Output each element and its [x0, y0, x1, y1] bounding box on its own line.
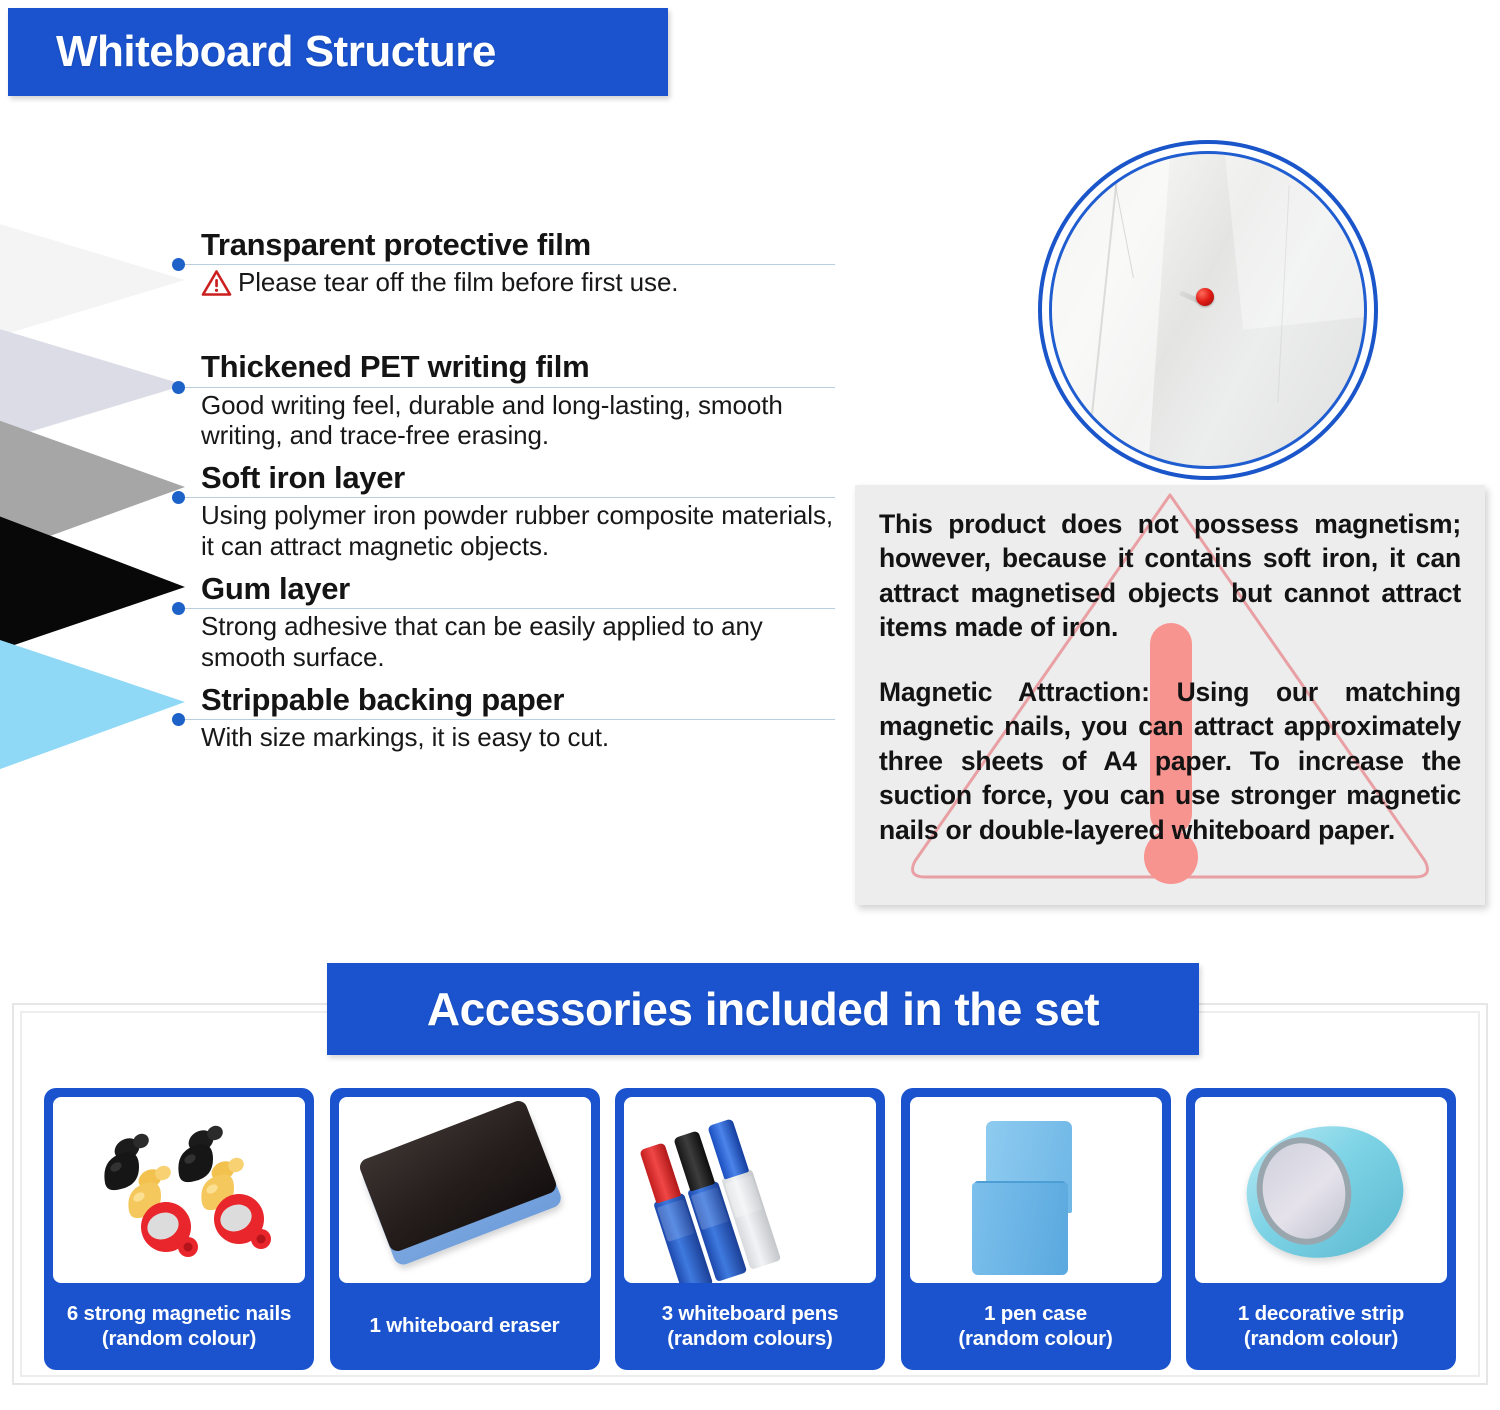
layer-title: Soft iron layer	[165, 461, 835, 494]
accessory-caption-line2: (random colour)	[1238, 1327, 1404, 1351]
layer-description: With size markings, it is easy to cut.	[165, 722, 835, 753]
accessory-card-decorative-strip[interactable]: 1 decorative strip (random colour)	[1186, 1088, 1456, 1370]
accessory-caption: 1 decorative strip (random colour)	[1234, 1283, 1408, 1370]
page-title: Whiteboard Structure	[8, 27, 496, 77]
layer-title: Thickened PET writing film	[165, 350, 835, 383]
decorative-strip-photo	[1195, 1097, 1447, 1283]
layer-row: Transparent protective film Please tear …	[165, 228, 835, 304]
accessory-caption-line1: 1 pen case	[984, 1302, 1087, 1325]
magnetic-pin-photo	[1049, 151, 1367, 469]
magnetic-nails-photo	[53, 1097, 305, 1283]
wedge-backing-paper	[0, 630, 185, 780]
wedge-gum-layer	[0, 505, 185, 660]
accessory-caption-line2: (random colours)	[662, 1327, 839, 1351]
accessory-card-whiteboard-eraser[interactable]: 1 whiteboard eraser	[330, 1088, 600, 1370]
pen-case-photo	[910, 1097, 1162, 1283]
red-magnetic-pin-icon	[1196, 288, 1214, 306]
magnetism-note-box: This product does not possess magne­tism…	[855, 485, 1485, 905]
accessory-caption: 3 whiteboard pens (random colours)	[658, 1283, 843, 1370]
layer-rule	[173, 719, 835, 720]
accessory-caption-line1: 3 whiteboard pens	[662, 1302, 839, 1325]
red-nail-2	[214, 1194, 271, 1249]
accessories-title: Accessories included in the set	[427, 982, 1099, 1036]
note-paragraph-1: This product does not possess magne­tism…	[879, 507, 1461, 645]
note-paragraph-2: Magnetic Attraction: Using our match­ing…	[879, 675, 1461, 847]
layer-title: Strippable backing paper	[165, 683, 835, 716]
layer-rule	[173, 387, 835, 388]
page-title-banner: Whiteboard Structure	[8, 8, 668, 96]
whiteboard-pens-photo	[624, 1097, 876, 1283]
layer-row: Soft iron layer Using polymer iron powde…	[165, 461, 835, 562]
accessory-caption-line2: (random colour)	[958, 1327, 1112, 1351]
red-nail-1	[141, 1202, 198, 1257]
layer-rule	[173, 497, 835, 498]
layer-rule	[173, 608, 835, 609]
accessory-card-whiteboard-pens[interactable]: 3 whiteboard pens (random colours)	[615, 1088, 885, 1370]
accessory-caption-line1: 6 strong magnetic nails	[67, 1302, 291, 1325]
warning-triangle-icon	[201, 269, 232, 304]
whiteboard-eraser-photo	[339, 1097, 591, 1283]
layer-row: Gum layer Strong adhesive that can be ea…	[165, 572, 835, 673]
layer-row: Strippable backing paper With size marki…	[165, 683, 835, 753]
layer-rule	[173, 264, 835, 265]
layer-title: Gum layer	[165, 572, 835, 605]
accessory-card-magnetic-nails[interactable]: 6 strong magnetic nails (random colour)	[44, 1088, 314, 1370]
accessories-card-row: 6 strong magnetic nails (random colour) …	[44, 1088, 1456, 1370]
magnetic-pin-photo-inset	[1038, 140, 1378, 480]
accessory-caption-line1: 1 whiteboard eraser	[370, 1314, 560, 1337]
layer-description: Good writing feel, durable and long-last…	[165, 390, 835, 451]
pen-case-body	[972, 1183, 1068, 1275]
accessory-caption: 1 whiteboard eraser	[366, 1283, 564, 1370]
layer-title: Transparent protective film	[165, 228, 835, 261]
layer-bullet-dot	[172, 381, 185, 394]
layer-bullet-dot	[172, 713, 185, 726]
layer-description: Using polymer iron powder rubber composi…	[165, 500, 835, 561]
accessories-banner: Accessories included in the set	[327, 963, 1199, 1055]
layer-row: Thickened PET writing film Good writing …	[165, 350, 835, 451]
accessory-caption-line2: (random colour)	[67, 1327, 291, 1351]
layer-list: Transparent protective film Please tear …	[165, 228, 835, 753]
wedge-transparent-film	[0, 215, 185, 345]
layer-description-text: Please tear off the film before first us…	[238, 267, 678, 297]
accessory-card-pen-case[interactable]: 1 pen case (random colour)	[901, 1088, 1171, 1370]
layer-description: Strong adhesive that can be easily appli…	[165, 611, 835, 672]
accessory-caption: 1 pen case (random colour)	[954, 1283, 1116, 1370]
layer-wedges-svg	[0, 205, 190, 895]
accessory-caption-line1: 1 decorative strip	[1238, 1302, 1404, 1325]
layer-stack-diagram	[0, 205, 190, 895]
layer-description: Please tear off the film before first us…	[165, 267, 835, 304]
accessory-caption: 6 strong magnetic nails (random colour)	[63, 1283, 295, 1370]
wedge-pet-film	[0, 320, 185, 450]
